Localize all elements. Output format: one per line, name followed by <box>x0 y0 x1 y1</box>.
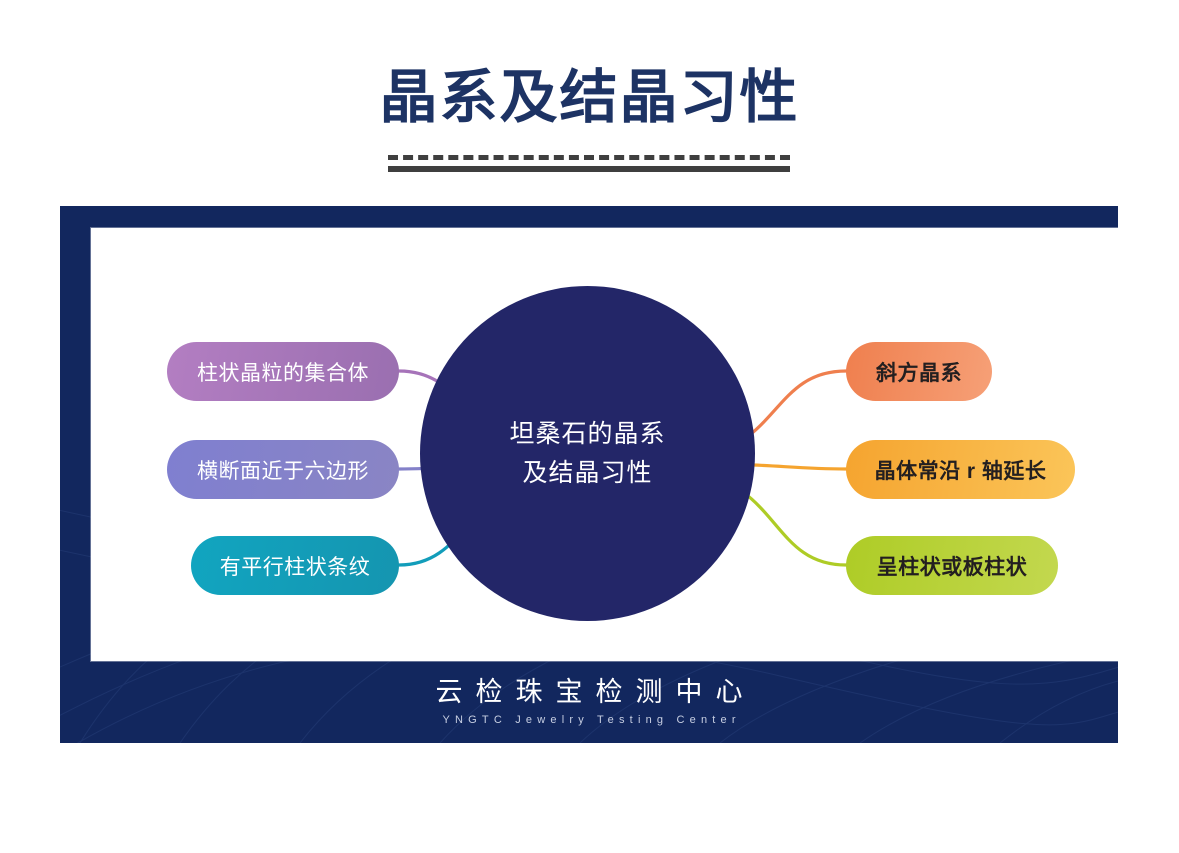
divider-solid-line <box>388 166 790 172</box>
center-node-line1: 坦桑石的晶系 <box>509 415 665 454</box>
page-title: 晶系及结晶习性 <box>0 66 1179 130</box>
footer: 云检珠宝检测中心 YNGTC Jewelry Testing Center <box>60 676 1118 726</box>
mindmap: 坦桑石的晶系 及结晶习性 柱状晶粒的集合体 横断面近于六边形 有平行柱状条纹 斜… <box>91 228 1118 661</box>
branch-right-1[interactable]: 斜方晶系 <box>846 342 992 401</box>
center-node-line2: 及结晶习性 <box>522 454 652 493</box>
branch-left-3[interactable]: 有平行柱状条纹 <box>191 536 399 595</box>
center-node[interactable]: 坦桑石的晶系 及结晶习性 <box>420 286 755 621</box>
title-divider <box>388 155 790 175</box>
branch-left-1[interactable]: 柱状晶粒的集合体 <box>167 342 399 401</box>
branch-right-3[interactable]: 呈柱状或板柱状 <box>846 536 1058 595</box>
branch-right-2[interactable]: 晶体常沿 r 轴延长 <box>846 440 1075 499</box>
mindmap-panel: 坦桑石的晶系 及结晶习性 柱状晶粒的集合体 横断面近于六边形 有平行柱状条纹 斜… <box>91 228 1118 661</box>
footer-name-cn: 云检珠宝检测中心 <box>60 676 1118 710</box>
content-frame: 坦桑石的晶系 及结晶习性 柱状晶粒的集合体 横断面近于六边形 有平行柱状条纹 斜… <box>60 206 1118 743</box>
footer-name-en: YNGTC Jewelry Testing Center <box>60 714 1118 726</box>
divider-dashed-line <box>388 155 790 160</box>
branch-left-2[interactable]: 横断面近于六边形 <box>167 440 399 499</box>
